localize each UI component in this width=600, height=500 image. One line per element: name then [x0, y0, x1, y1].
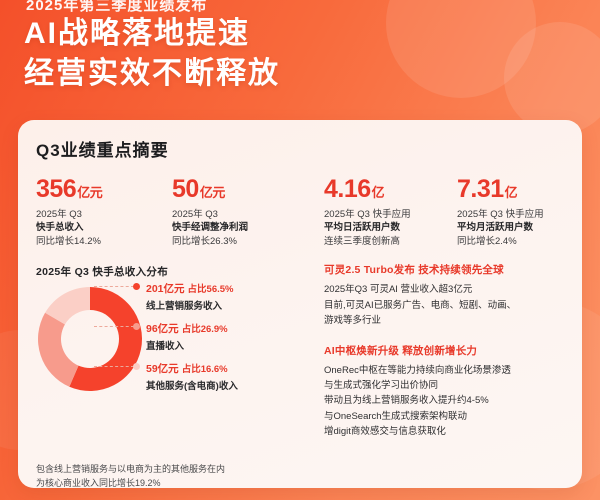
- kpi-value: 4.16亿: [324, 175, 457, 204]
- right-column: 4.16亿 2025年 Q3 快手应用 平均日活跃用户数 连续三季度创新高 7.…: [324, 175, 590, 493]
- header-kicker: 2025年第三季度业绩发布: [26, 0, 207, 15]
- kpi-change: 同比增长14.2%: [36, 235, 172, 248]
- highlight-kling: 可灵2.5 Turbo发布 技术持续领先全球 2025年Q3 可灵AI 营业收入…: [324, 262, 590, 328]
- kpi-unit: 亿元: [77, 185, 102, 200]
- footnote-line-1: 包含线上营销服务与以电商为主的其他服务在内: [36, 463, 310, 477]
- infographic-root: 2025年第三季度业绩发布 AI战略落地提速 经营实效不断释放 Q3业绩重点摘要…: [0, 0, 600, 500]
- kpi-row-left: 356亿元 2025年 Q3 快手总收入 同比增长14.2% 50亿元: [36, 175, 306, 248]
- kpi-unit: 亿: [505, 185, 518, 200]
- leader-line: [94, 286, 134, 287]
- block-body: 2025年Q3 可灵AI 营业收入超3亿元 目前,可灵AI已服务广告、电商、短剧…: [324, 282, 590, 328]
- kpi-subtext: 2025年 Q3 快手经调整净利润 同比增长26.3%: [172, 208, 306, 248]
- legend-label: 其他服务(含电商)收入: [146, 378, 314, 392]
- block-title: AI中枢焕新升级 释放创新增长力: [324, 343, 590, 358]
- donut-chart-svg: [36, 285, 144, 393]
- headline-line-2: 经营实效不断释放: [24, 54, 280, 94]
- legend-item-online-marketing: 201亿元占比56.5% 线上营销服务收入: [146, 281, 314, 312]
- kpi-subtext: 2025年 Q3 快手应用 平均日活跃用户数 连续三季度创新高: [324, 208, 457, 248]
- kpi-change: 连续三季度创新高: [324, 235, 457, 248]
- kpi-unit: 亿: [372, 185, 385, 200]
- kpi-period: 2025年 Q3: [172, 208, 306, 221]
- kpi-name: 快手总收入: [36, 221, 172, 234]
- legend-item-other-services: 59亿元占比16.6% 其他服务(含电商)收入: [146, 361, 314, 392]
- kpi-period: 2025年 Q3 快手应用: [457, 208, 590, 221]
- leader-line: [94, 326, 134, 327]
- kpi-subtext: 2025年 Q3 快手应用 平均月活跃用户数 同比增长2.4%: [457, 208, 590, 248]
- kpi-subtext: 2025年 Q3 快手总收入 同比增长14.2%: [36, 208, 172, 248]
- kpi-name: 平均日活跃用户数: [324, 221, 457, 234]
- kpi-value: 356亿元: [36, 175, 172, 204]
- kpi-name: 平均月活跃用户数: [457, 221, 590, 234]
- legend-value: 59亿元占比16.6%: [146, 361, 314, 376]
- kpi-number: 4.16: [324, 175, 371, 203]
- summary-card: Q3业绩重点摘要 356亿元 2025年 Q3 快手总收入 同比增长14.2%: [18, 120, 582, 488]
- legend-item-livestream: 96亿元占比26.9% 直播收入: [146, 321, 314, 352]
- chart-legend: 201亿元占比56.5% 线上营销服务收入 96亿元占比26.9% 直播收入: [146, 281, 314, 401]
- block-body: OneRec中枢在等能力持续向商业化场景渗透 与生成式强化学习出价协同 带动且为…: [324, 363, 590, 440]
- kpi-name: 快手经调整净利润: [172, 221, 306, 234]
- kpi-number: 7.31: [457, 175, 504, 203]
- legend-value: 201亿元占比56.5%: [146, 281, 314, 296]
- block-title: 可灵2.5 Turbo发布 技术持续领先全球: [324, 262, 590, 277]
- chart-title: 2025年 Q3 快手总收入分布: [36, 264, 306, 279]
- card-title: Q3业绩重点摘要: [36, 136, 564, 161]
- legend-label: 直播收入: [146, 338, 314, 352]
- highlight-ai-core: AI中枢焕新升级 释放创新增长力 OneRec中枢在等能力持续向商业化场景渗透 …: [324, 343, 590, 440]
- left-column: 356亿元 2025年 Q3 快手总收入 同比增长14.2% 50亿元: [36, 175, 306, 493]
- kpi-row-right: 4.16亿 2025年 Q3 快手应用 平均日活跃用户数 连续三季度创新高 7.…: [324, 175, 590, 248]
- kpi-period: 2025年 Q3: [36, 208, 172, 221]
- kpi-number: 356: [36, 175, 76, 203]
- header: 2025年第三季度业绩发布 AI战略落地提速 经营实效不断释放: [0, 0, 600, 118]
- headline-line-1: AI战略落地提速: [24, 14, 280, 54]
- donut-slice: [38, 313, 78, 387]
- kpi-adjusted-net-profit: 50亿元 2025年 Q3 快手经调整净利润 同比增长26.3%: [172, 175, 306, 248]
- kpi-change: 同比增长26.3%: [172, 235, 306, 248]
- kpi-number: 50: [172, 175, 199, 203]
- revenue-donut-chart: 201亿元占比56.5% 线上营销服务收入 96亿元占比26.9% 直播收入: [36, 285, 306, 415]
- kpi-period: 2025年 Q3 快手应用: [324, 208, 457, 221]
- kpi-dau: 4.16亿 2025年 Q3 快手应用 平均日活跃用户数 连续三季度创新高: [324, 175, 457, 248]
- legend-value: 96亿元占比26.9%: [146, 321, 314, 336]
- legend-label: 线上营销服务收入: [146, 298, 314, 312]
- footnote-line-2: 为核心商业收入同比增长19.2%: [36, 477, 310, 491]
- kpi-mau: 7.31亿 2025年 Q3 快手应用 平均月活跃用户数 同比增长2.4%: [457, 175, 590, 248]
- chart-footnote: 包含线上营销服务与以电商为主的其他服务在内 为核心商业收入同比增长19.2%: [36, 463, 310, 491]
- kpi-value: 50亿元: [172, 175, 306, 204]
- kpi-unit: 亿元: [200, 185, 225, 200]
- kpi-value: 7.31亿: [457, 175, 590, 204]
- page-title: AI战略落地提速 经营实效不断释放: [24, 14, 280, 93]
- leader-line: [94, 366, 134, 367]
- kpi-total-revenue: 356亿元 2025年 Q3 快手总收入 同比增长14.2%: [36, 175, 172, 248]
- kpi-change: 同比增长2.4%: [457, 235, 590, 248]
